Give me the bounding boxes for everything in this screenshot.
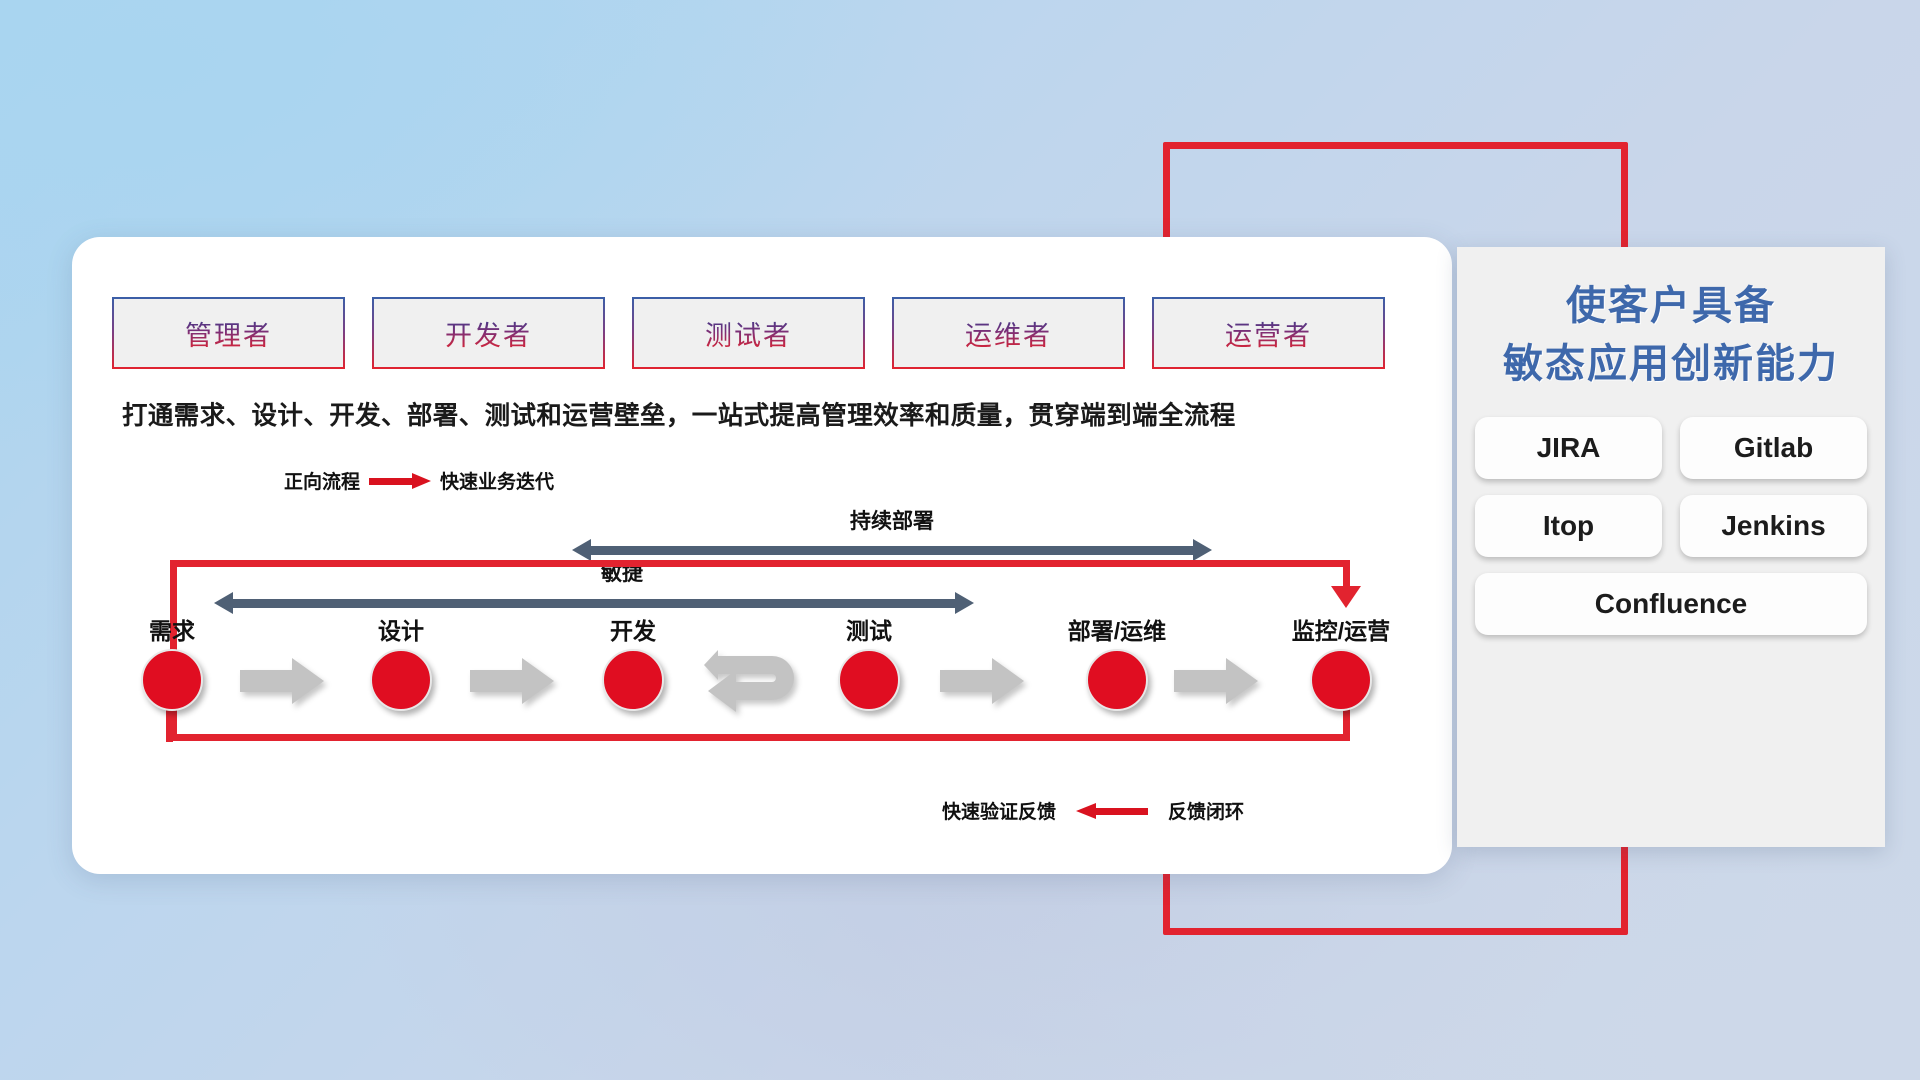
- arrow-head-left: [214, 592, 233, 614]
- arrow-right-red-icon: [369, 473, 431, 489]
- stage-design[interactable]: 设计: [358, 612, 444, 711]
- legend-feedback-loop: 快速验证反馈 反馈闭环: [942, 797, 1244, 824]
- loop-line-bottom: [170, 734, 1350, 741]
- arrow-left-red-icon: [1076, 803, 1148, 819]
- tool-chip-itop[interactable]: Itop: [1475, 495, 1662, 557]
- arrow-head-right: [1193, 539, 1212, 561]
- tool-chip-jenkins[interactable]: Jenkins: [1680, 495, 1867, 557]
- stage-label: 测试: [826, 612, 912, 646]
- role-label: 管理者: [185, 314, 272, 353]
- role-label: 运维者: [965, 314, 1052, 353]
- role-box-row: 管理者 开发者 测试者 运维者 运营者: [112, 297, 1385, 369]
- panel-title-line2: 敏态应用创新能力: [1457, 335, 1885, 393]
- tool-chip-gitlab[interactable]: Gitlab: [1680, 417, 1867, 479]
- stage-dot-icon: [838, 649, 900, 711]
- stage-monitor-operate[interactable]: 监控/运营: [1265, 612, 1417, 711]
- stage-deploy-ops[interactable]: 部署/运维: [1042, 612, 1192, 711]
- description-text: 打通需求、设计、开发、部署、测试和运营壁垒，一站式提高管理效率和质量，贯穿端到端…: [122, 395, 1236, 432]
- stage-dot-icon: [1310, 649, 1372, 711]
- role-label: 运营者: [1225, 314, 1312, 353]
- stage-dot-icon: [1086, 649, 1148, 711]
- stage-dot-icon: [370, 649, 432, 711]
- capability-panel: 使客户具备 敏态应用创新能力 JIRA Gitlab Itop Jenkins …: [1457, 247, 1885, 847]
- loop-arrow-down-icon: [1331, 586, 1361, 608]
- arrow-bar: [232, 599, 956, 608]
- stage-label: 设计: [358, 612, 444, 646]
- stage-dot-icon: [602, 649, 664, 711]
- stage-label: 需求: [129, 612, 215, 646]
- panel-title-line1: 使客户具备: [1457, 277, 1885, 335]
- stage-label: 部署/运维: [1042, 612, 1192, 646]
- span-deploy-label: 持续部署: [762, 505, 1022, 535]
- role-label: 测试者: [705, 314, 792, 353]
- tool-chip-confluence[interactable]: Confluence: [1475, 573, 1867, 635]
- stage-develop[interactable]: 开发: [590, 612, 676, 711]
- span-agile-double-arrow-icon: [214, 592, 974, 614]
- tool-chip-list: JIRA Gitlab Itop Jenkins Confluence: [1457, 417, 1885, 635]
- flow-arrow-test-to-deploy-icon: [940, 658, 1024, 704]
- flow-arrow-req-to-design-icon: [240, 658, 324, 704]
- legend-feedback-right-label: 反馈闭环: [1168, 797, 1244, 824]
- stage-dot-icon: [141, 649, 203, 711]
- legend-forward-left-label: 正向流程: [284, 467, 360, 494]
- role-label: 开发者: [445, 314, 532, 353]
- tool-chip-jira[interactable]: JIRA: [1475, 417, 1662, 479]
- arrow-head-right: [955, 592, 974, 614]
- legend-feedback-left-label: 快速验证反馈: [942, 797, 1056, 824]
- stage-requirement[interactable]: 需求: [129, 612, 215, 711]
- arrow-bar: [590, 546, 1194, 555]
- stage-label: 监控/运营: [1265, 612, 1417, 646]
- main-card: 管理者 开发者 测试者 运维者 运营者 打通需求、设计、开发、部署、测试和运营壁…: [72, 237, 1452, 874]
- role-box-manager[interactable]: 管理者: [112, 297, 345, 369]
- role-box-developer[interactable]: 开发者: [372, 297, 605, 369]
- flow-arrow-design-to-dev-icon: [470, 658, 554, 704]
- stage-test[interactable]: 测试: [826, 612, 912, 711]
- legend-forward-flow: 正向流程 快速业务迭代: [284, 467, 554, 494]
- loop-line-top: [170, 560, 1350, 567]
- panel-title: 使客户具备 敏态应用创新能力: [1457, 247, 1885, 393]
- role-box-operator[interactable]: 运营者: [1152, 297, 1385, 369]
- role-box-ops[interactable]: 运维者: [892, 297, 1125, 369]
- role-box-tester[interactable]: 测试者: [632, 297, 865, 369]
- stage-label: 开发: [590, 612, 676, 646]
- legend-forward-right-label: 快速业务迭代: [440, 467, 554, 494]
- flow-arrow-uturn-dev-test-icon: [700, 650, 810, 716]
